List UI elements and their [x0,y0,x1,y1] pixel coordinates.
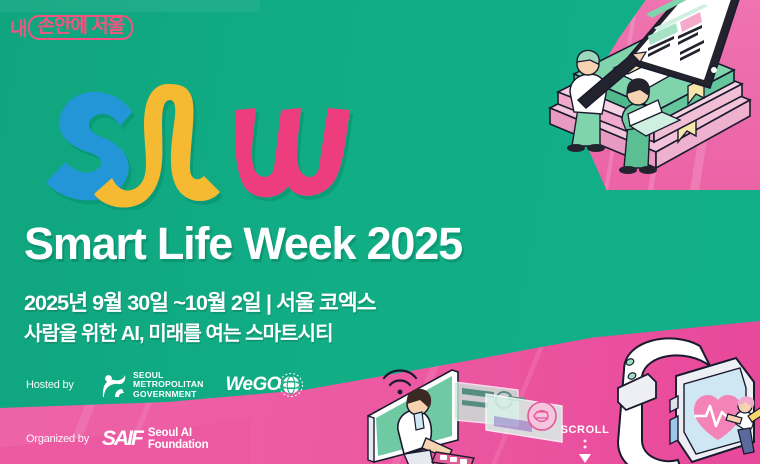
books-tablet-illustration-svg [528,0,760,182]
brand-boxed-text: 손안에 서울 [28,15,133,40]
slw-letter-w [235,108,350,197]
smartwatch-illustration [594,336,760,464]
organized-by-row: Organized by SAIF Seoul AI Foundation [26,422,304,456]
wego-logo-text: WeGO [226,374,281,396]
event-tagline: 사람을 위한 AI, 미래를 여는 스마트시티 [24,317,333,346]
hologram-panel-right [486,394,562,442]
scroll-indicator[interactable]: SCROLL [556,424,614,464]
books-tablet-illustration [528,0,760,182]
researcher-screens-illustration-svg [348,358,568,464]
slw-logo [40,82,370,210]
background-top-stripe [0,0,260,12]
seoul-logo-line-2: METROPOLITAN [133,379,204,389]
seoul-logo-text: SEOUL METROPOLITAN GOVERNMENT [133,371,204,400]
organized-by-label: Organized by [26,433,102,445]
slw-letter-s [46,92,132,200]
seoul-logo-mark-icon [102,372,127,398]
wego-logo: WeGO [226,372,304,398]
saif-logo-line-1: Seoul AI [148,427,192,439]
saif-logo-mark: SAIF [102,427,142,451]
scroll-label: SCROLL [556,424,614,436]
event-date-venue: 2025년 9월 30일 ~10월 2일 | 서울 코엑스 [24,286,376,317]
seoul-ai-foundation-logo: SAIF Seoul AI Foundation [102,427,208,452]
brand-prefix: 내 [10,14,26,41]
hosted-by-label: Hosted by [26,379,102,391]
slw-logo-svg [40,82,370,210]
seoul-logo-line-1: SEOUL [133,370,164,380]
seoul-brand-logo: 내 손안에 서울 [10,14,133,41]
credits-block: Hosted by SEOUL METROPOLITAN GOVERNMENT … [26,368,304,456]
wego-globe-icon [278,372,304,398]
hosted-by-row: Hosted by SEOUL METROPOLITAN GOVERNMENT … [26,368,304,402]
smartwatch-illustration-svg [594,336,760,464]
seoul-logo-line-3: GOVERNMENT [133,389,197,399]
seoul-metropolitan-government-logo: SEOUL METROPOLITAN GOVERNMENT [102,371,204,400]
page-title: Smart Life Week 2025 [24,218,462,270]
saif-logo-text: Seoul AI Foundation [148,427,209,452]
wifi-icon [384,371,416,395]
saif-logo-line-2: Foundation [148,439,209,451]
scroll-arrow-icon [556,439,614,464]
promo-banner: 내 손안에 서울 Smart Life Week 2025 2025년 9월 3… [0,0,760,464]
researcher-screens-illustration [348,358,568,464]
held-tablet [432,452,474,464]
